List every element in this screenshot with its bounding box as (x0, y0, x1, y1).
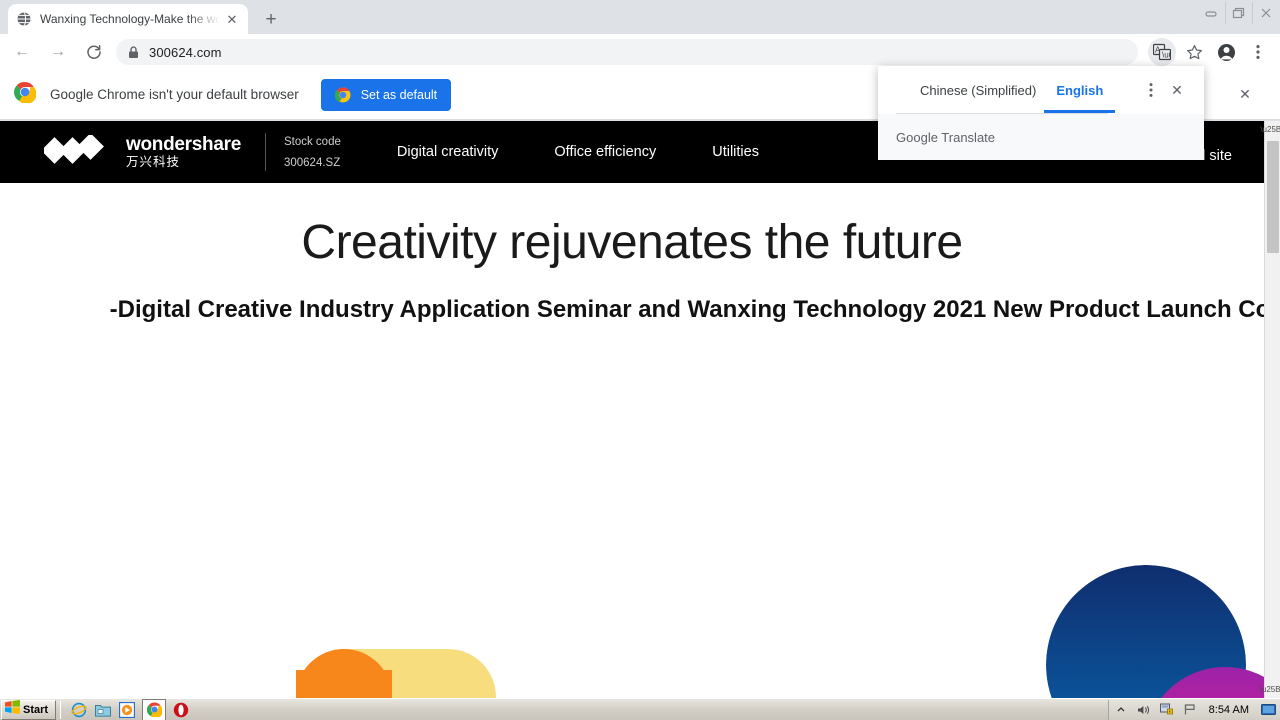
set-as-default-button[interactable]: Set as default (321, 79, 451, 111)
infobar-message: Google Chrome isn't your default browser (50, 87, 299, 102)
browser-toolbar: ← → 300624.com (0, 34, 1280, 70)
nav-link-utilities[interactable]: Utilities (712, 144, 759, 160)
page-viewport: wondershare 万兴科技 Stock code 300624.SZ Di… (0, 121, 1264, 698)
globe-icon (16, 11, 32, 27)
wondershare-logo[interactable]: wondershare 万兴科技 (44, 135, 241, 169)
svg-text:\u6587: \u6587 (1162, 51, 1171, 60)
tab-close-icon[interactable]: ✕ (224, 11, 240, 27)
bookmark-star-icon[interactable] (1180, 38, 1208, 66)
translate-icon[interactable]: A \u6587 (1148, 38, 1176, 66)
hero-section: Creativity rejuvenates the future -Digit… (0, 183, 1264, 698)
nav-link-digital-creativity[interactable]: Digital creativity (397, 144, 499, 160)
scroll-down-arrow-icon[interactable]: \u25BC (1265, 681, 1280, 698)
address-bar[interactable]: 300624.com (116, 39, 1138, 65)
chrome-icon[interactable] (143, 700, 165, 720)
browser-tab[interactable]: Wanxing Technology-Make the world ✕ (8, 4, 248, 34)
translate-more-icon[interactable] (1138, 77, 1164, 103)
volume-icon[interactable] (1136, 702, 1152, 718)
clock[interactable]: 8:54 AM (1209, 704, 1249, 716)
tab-title: Wanxing Technology-Make the world (40, 12, 220, 26)
translate-popup: Chinese (Simplified) English ✕ Google Tr… (878, 66, 1204, 160)
system-tray: 8:54 AM (1108, 700, 1280, 720)
stock-label: Stock code (284, 134, 341, 150)
nav-links: Digital creativity Office efficiency Uti… (397, 144, 815, 160)
reload-icon[interactable] (80, 38, 108, 66)
tab-source-language[interactable]: Chinese (Simplified) (910, 67, 1046, 113)
scroll-up-arrow-icon[interactable]: \u25B2 (1265, 121, 1280, 138)
folder-icon[interactable] (95, 702, 111, 718)
internet-explorer-icon[interactable] (71, 702, 87, 718)
wondershare-mark-icon (44, 135, 116, 169)
set-as-default-label: Set as default (361, 88, 437, 102)
start-button-label: Start (23, 704, 48, 716)
stock-code: 300624.SZ (284, 155, 341, 171)
desktop-icon[interactable] (1260, 702, 1276, 718)
network-flag-icon[interactable] (1182, 702, 1198, 718)
close-window-button[interactable] (1252, 2, 1278, 24)
quick-launch-bar (71, 700, 189, 720)
profile-icon[interactable] (1212, 38, 1240, 66)
logo-text-en: wondershare (126, 135, 241, 154)
security-shield-icon[interactable] (1159, 702, 1175, 718)
translate-footer-brand: Google Translate (878, 114, 1204, 160)
page-title: Creativity rejuvenates the future (0, 215, 1264, 270)
translate-close-icon[interactable]: ✕ (1164, 77, 1190, 103)
chrome-logo-icon (14, 81, 36, 108)
menu-kebab-icon[interactable] (1244, 38, 1272, 66)
logo-text-cn: 万兴科技 (126, 156, 241, 169)
translate-language-tabs: Chinese (Simplified) English ✕ (878, 66, 1204, 114)
google-brand-letter: G (896, 130, 906, 145)
windows-flag-icon (5, 700, 20, 719)
windows-taskbar: Start (0, 698, 1280, 720)
infobar-close-icon[interactable]: ✕ (1232, 82, 1258, 108)
page-scrollbar[interactable]: \u25B2 \u25BC (1264, 121, 1280, 698)
opera-icon[interactable] (173, 702, 189, 718)
new-tab-button[interactable]: + (258, 7, 284, 33)
forward-icon[interactable]: → (44, 38, 72, 66)
minimize-button[interactable] (1198, 2, 1224, 24)
tab-target-language[interactable]: English (1046, 67, 1113, 113)
start-button[interactable]: Start (1, 700, 56, 720)
restore-button[interactable] (1225, 2, 1251, 24)
orange-corner-shape (296, 670, 392, 698)
window-controls (1197, 0, 1278, 26)
screen: Wanxing Technology-Make the world ✕ + (0, 0, 1280, 720)
address-bar-url: 300624.com (149, 45, 222, 60)
stock-info: Stock code 300624.SZ (284, 134, 341, 171)
media-player-icon[interactable] (119, 702, 135, 718)
back-icon[interactable]: ← (8, 38, 36, 66)
lock-icon (128, 46, 139, 59)
scrollbar-thumb[interactable] (1267, 141, 1279, 253)
google-translate-label: oogle Translate (906, 130, 995, 145)
tab-underline-divider (896, 113, 1108, 114)
page-subtitle: -Digital Creative Industry Application S… (96, 293, 1264, 326)
tab-strip: Wanxing Technology-Make the world ✕ + (0, 0, 1280, 34)
show-hidden-icons-icon[interactable] (1113, 702, 1129, 718)
taskbar-separator (60, 701, 61, 719)
wondershare-wordmark: wondershare 万兴科技 (126, 135, 241, 169)
nav-link-office-efficiency[interactable]: Office efficiency (554, 144, 656, 160)
nav-divider (265, 133, 266, 171)
chrome-badge-icon (335, 87, 351, 103)
